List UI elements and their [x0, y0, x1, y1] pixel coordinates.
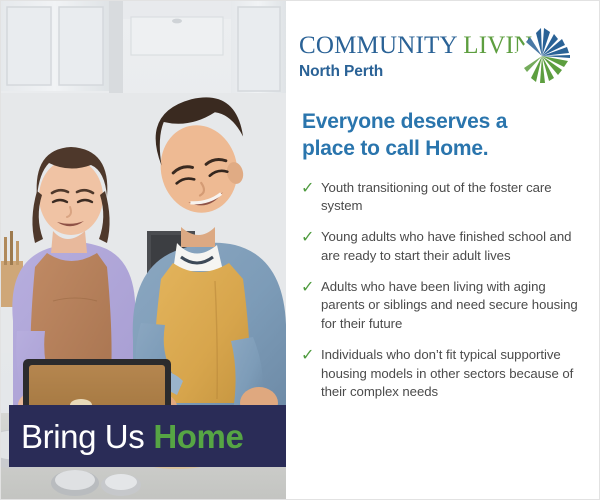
list-item: ✓ Young adults who have finished school …	[301, 228, 581, 265]
headline-line-1: Everyone deserves a	[302, 109, 581, 136]
eligibility-list: ✓ Youth transitioning out of the foster …	[299, 179, 581, 402]
diamond-rays-logo-icon	[511, 25, 573, 87]
list-item-label: Individuals who don’t fit typical suppor…	[321, 346, 581, 402]
check-icon: ✓	[301, 346, 321, 364]
check-icon: ✓	[301, 179, 321, 197]
content-panel: COMMUNITY LIVING North Perth	[286, 1, 599, 499]
headline-line-2: place to call Home.	[302, 136, 581, 163]
banner-primary-text: Bring Us	[21, 420, 144, 453]
poster-page: Bring Us Home COMMUNITY LIVING North Per…	[0, 0, 600, 500]
list-item: ✓ Individuals who don’t fit typical supp…	[301, 346, 581, 402]
bring-us-home-banner: Bring Us Home	[9, 405, 286, 467]
list-item-label: Youth transitioning out of the foster ca…	[321, 179, 581, 216]
list-item-label: Young adults who have finished school an…	[321, 228, 581, 265]
logo-word-community: COMMUNITY	[299, 32, 457, 59]
page-title: Everyone deserves a place to call Home.	[299, 109, 581, 163]
banner-accent-text: Home	[153, 420, 243, 453]
organization-logo[interactable]: COMMUNITY LIVING North Perth	[299, 23, 581, 95]
check-icon: ✓	[301, 278, 321, 296]
list-item: ✓ Adults who have been living with aging…	[301, 278, 581, 334]
hero-photo: Bring Us Home	[1, 1, 286, 500]
list-item-label: Adults who have been living with aging p…	[321, 278, 581, 334]
check-icon: ✓	[301, 228, 321, 246]
list-item: ✓ Youth transitioning out of the foster …	[301, 179, 581, 216]
